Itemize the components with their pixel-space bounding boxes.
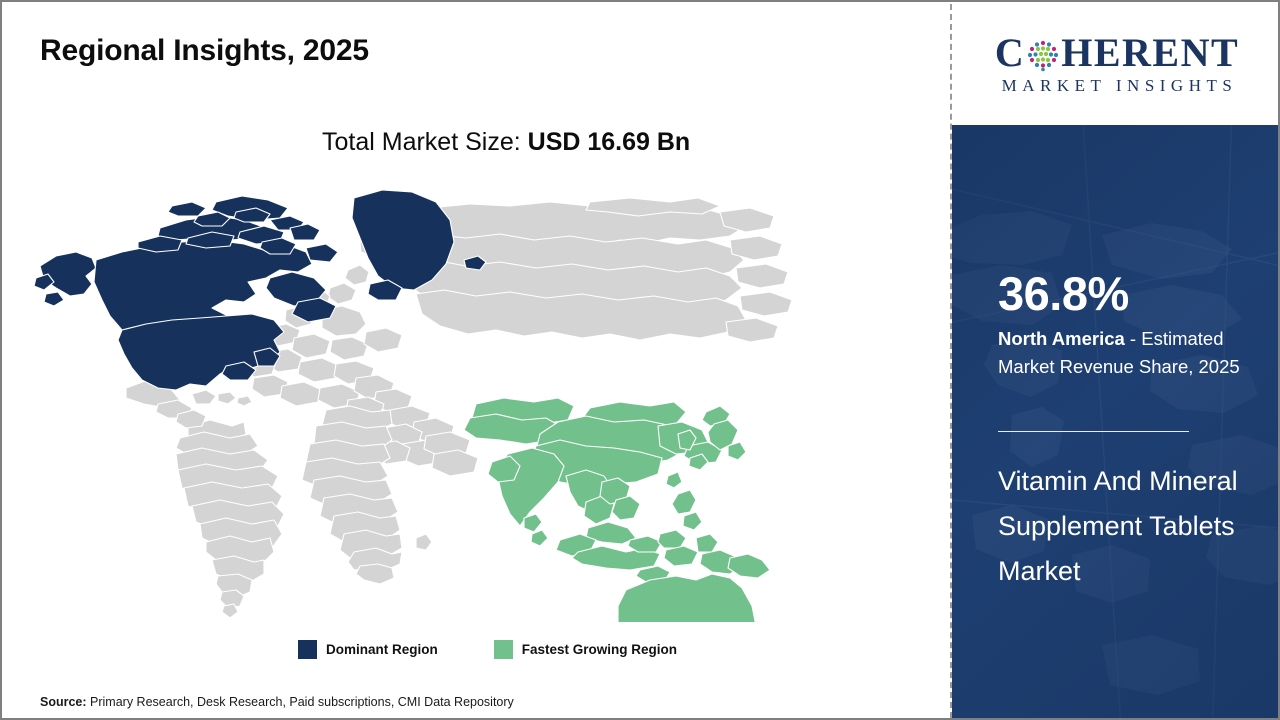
brand-logo: C	[952, 2, 1280, 125]
legend-swatch-fastest	[494, 640, 513, 659]
world-map	[30, 182, 830, 622]
logo-word-herent: HERENT	[1061, 33, 1239, 73]
map-region-russia	[396, 198, 792, 342]
total-market-size: Total Market Size: USD 16.69 Bn	[322, 128, 690, 157]
stat-region-name: North America	[998, 328, 1125, 349]
legend-label-dominant: Dominant Region	[326, 642, 438, 657]
map-region-asia-pacific-fastest	[464, 398, 808, 622]
logo-letter-c: C	[995, 33, 1025, 73]
market-size-value: USD 16.69 Bn	[528, 128, 691, 156]
legend-item-fastest: Fastest Growing Region	[494, 640, 677, 659]
logo-wordmark: C	[995, 33, 1239, 73]
legend-label-fastest: Fastest Growing Region	[522, 642, 677, 657]
legend-item-dominant: Dominant Region	[298, 640, 438, 659]
stat-divider-rule	[998, 431, 1189, 432]
source-note: Source: Primary Research, Desk Research,…	[40, 695, 514, 709]
stat-panel: 36.8% North America - Estimated Market R…	[952, 125, 1280, 720]
source-text: Primary Research, Desk Research, Paid su…	[90, 695, 514, 709]
infographic-frame: Regional Insights, 2025 Total Market Siz…	[0, 0, 1280, 720]
stat-percentage: 36.8%	[998, 270, 1129, 317]
market-title: Vitamin And Mineral Supplement Tablets M…	[998, 459, 1248, 594]
page-title: Regional Insights, 2025	[40, 34, 369, 68]
legend-swatch-dominant	[298, 640, 317, 659]
market-size-label: Total Market Size:	[322, 128, 521, 156]
map-region-central-america	[126, 380, 252, 428]
map-region-south-america	[176, 420, 284, 618]
world-map-svg	[30, 182, 830, 622]
source-label: Source:	[40, 695, 87, 709]
logo-tagline: MARKET INSIGHTS	[997, 77, 1238, 94]
right-panel: C	[952, 2, 1280, 720]
stat-description: North America - Estimated Market Revenue…	[998, 325, 1264, 381]
stat-content: 36.8% North America - Estimated Market R…	[998, 125, 1266, 720]
map-legend: Dominant Region Fastest Growing Region	[298, 640, 677, 659]
globe-icon	[1026, 38, 1060, 72]
left-content-pane: Regional Insights, 2025 Total Market Siz…	[2, 2, 950, 718]
